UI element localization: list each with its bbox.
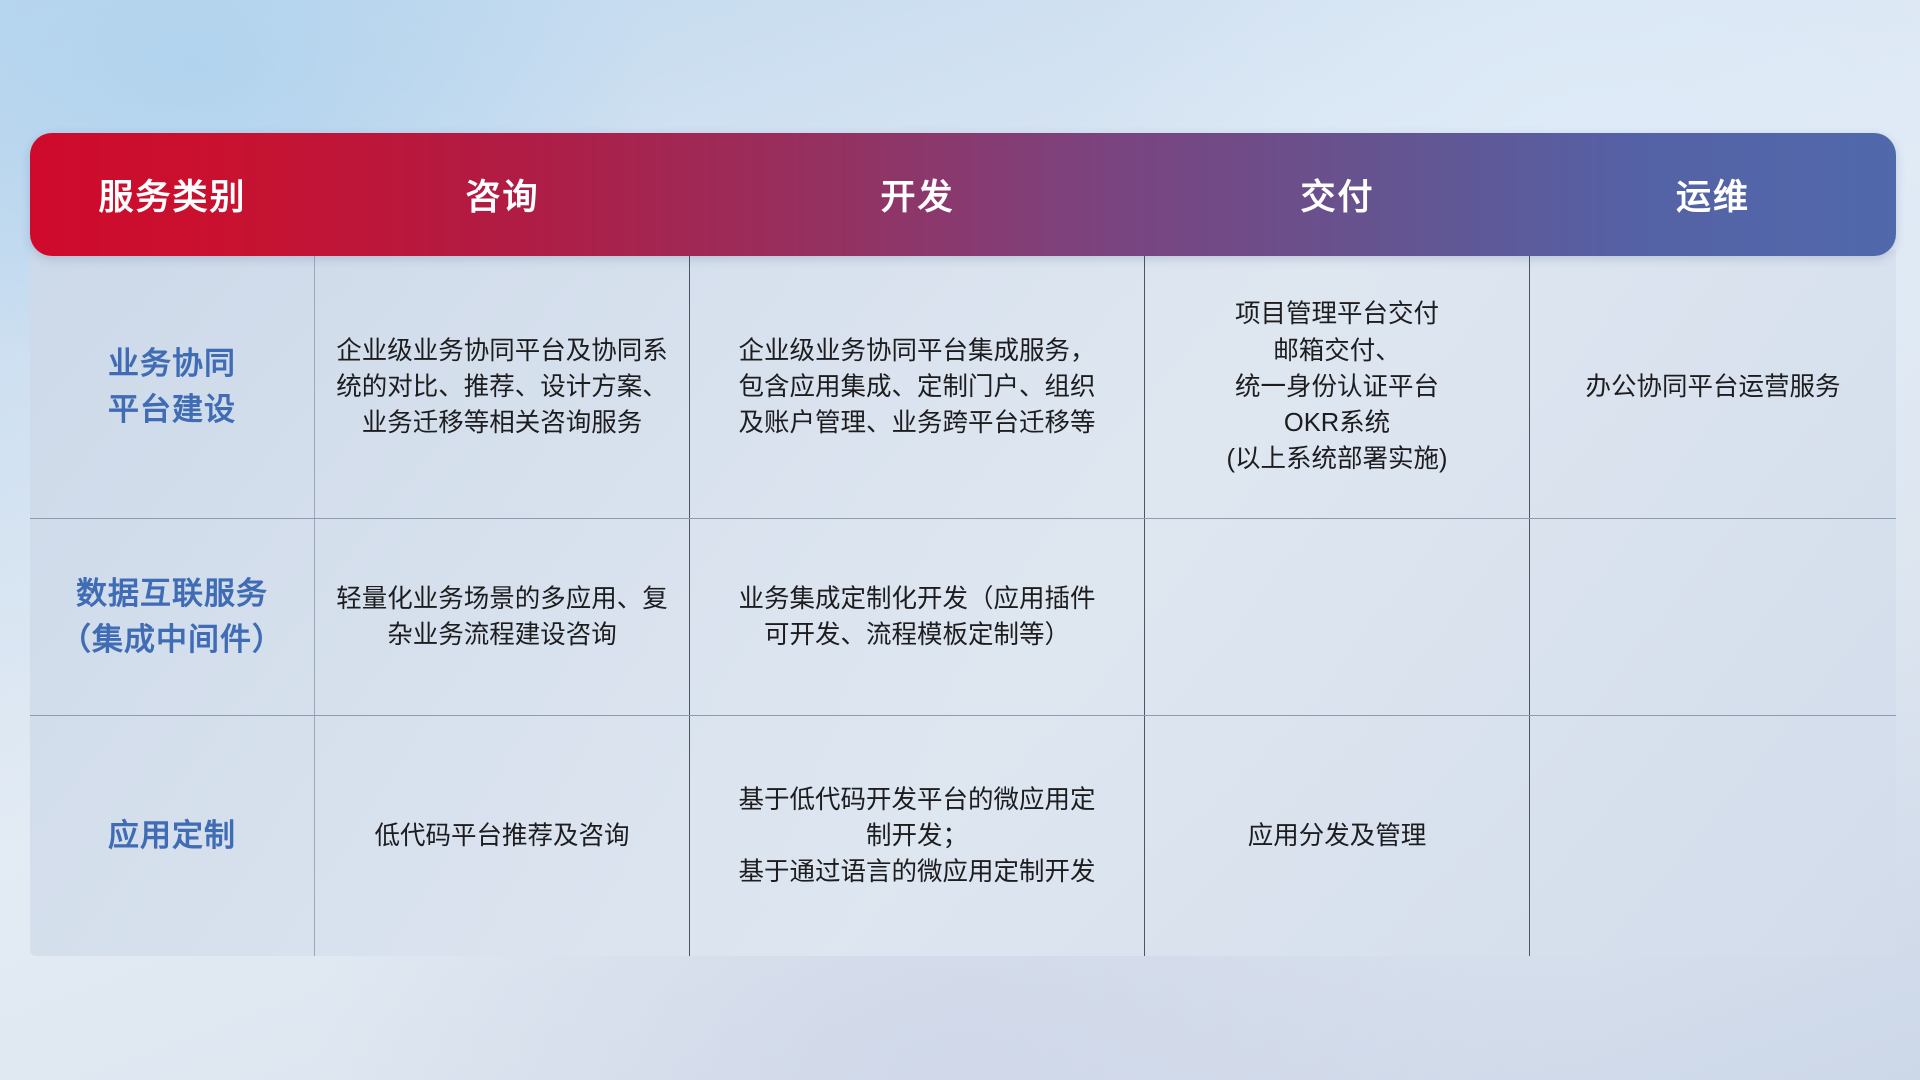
cell-consulting: 低代码平台推荐及咨询 [315,716,690,956]
row-category-label: 数据互联服务 （集成中间件） [30,519,315,715]
service-matrix-table: 服务类别 咨询 开发 交付 运维 业务协同 平台建设 企业级业务协同平台及协同系… [30,133,1896,956]
cell-development: 企业级业务协同平台集成服务， 包含应用集成、定制门户、组织 及账户管理、业务跨平… [690,256,1145,518]
cell-delivery: 应用分发及管理 [1145,716,1530,956]
row-category-label: 业务协同 平台建设 [30,256,315,518]
column-header-label: 咨询 [465,169,539,220]
cell-development: 基于低代码开发平台的微应用定 制开发； 基于通过语言的微应用定制开发 [690,716,1145,956]
cell-operations [1530,716,1896,956]
table-row: 应用定制 低代码平台推荐及咨询 基于低代码开发平台的微应用定 制开发； 基于通过… [30,716,1896,956]
slide-canvas: 服务类别 咨询 开发 交付 运维 业务协同 平台建设 企业级业务协同平台及协同系… [0,0,1920,1080]
column-header-label: 服务类别 [98,169,246,220]
column-header-label: 开发 [880,169,954,220]
column-header-label: 交付 [1300,169,1374,220]
column-header-delivery: 交付 [1145,133,1530,256]
cell-consulting: 轻量化业务场景的多应用、复 杂业务流程建设咨询 [315,519,690,715]
cell-delivery: 项目管理平台交付 邮箱交付、 统一身份认证平台 OKR系统 (以上系统部署实施) [1145,256,1530,518]
cell-consulting: 企业级业务协同平台及协同系 统的对比、推荐、设计方案、 业务迁移等相关咨询服务 [315,256,690,518]
column-header-development: 开发 [690,133,1145,256]
table-header-row: 服务类别 咨询 开发 交付 运维 [30,133,1896,256]
column-header-operations: 运维 [1530,133,1896,256]
cell-delivery [1145,519,1530,715]
column-header-label: 运维 [1676,169,1750,220]
cell-development: 业务集成定制化开发（应用插件 可开发、流程模板定制等） [690,519,1145,715]
row-category-label: 应用定制 [30,716,315,956]
table-body: 业务协同 平台建设 企业级业务协同平台及协同系 统的对比、推荐、设计方案、 业务… [30,250,1896,956]
column-header-service-category: 服务类别 [30,133,315,256]
cell-operations: 办公协同平台运营服务 [1530,256,1896,518]
column-header-consulting: 咨询 [315,133,690,256]
cell-operations [1530,519,1896,715]
table-row: 业务协同 平台建设 企业级业务协同平台及协同系 统的对比、推荐、设计方案、 业务… [30,256,1896,519]
table-row: 数据互联服务 （集成中间件） 轻量化业务场景的多应用、复 杂业务流程建设咨询 业… [30,519,1896,716]
